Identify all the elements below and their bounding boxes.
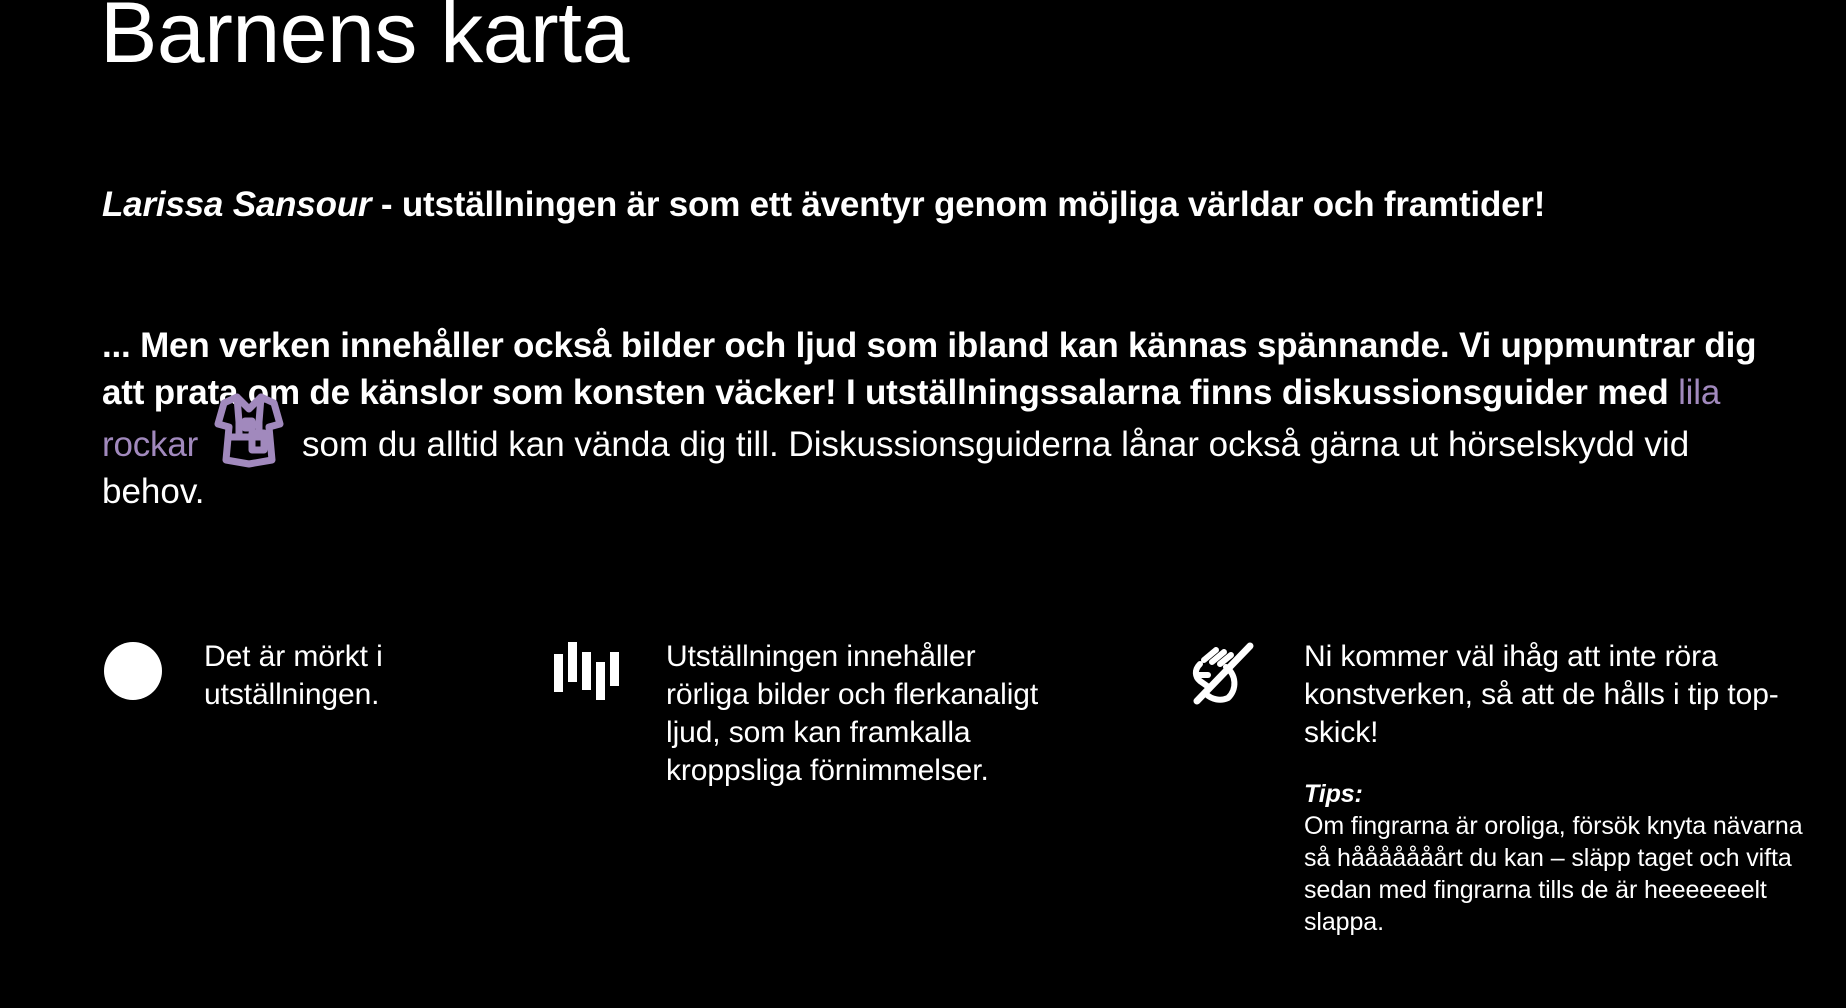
info-column-sound: Utställningen innehåller rörliga bilder …	[552, 628, 1052, 790]
filled-circle-icon	[104, 642, 162, 700]
barnens-karta-page: Barnens karta Larissa Sansour - utställn…	[0, 0, 1846, 1008]
artist-name: Larissa Sansour	[102, 185, 371, 224]
guidance-part-two: som du alltid kan vända dig till. Diskus…	[102, 425, 1689, 511]
page-title: Barnens karta	[100, 0, 629, 78]
do-not-touch-icon	[1186, 636, 1260, 713]
guidance-part-one: ... Men verken innehåller också bilder o…	[102, 326, 1756, 412]
tips-text: Om fingrarna är oroliga, försök knyta nä…	[1304, 812, 1803, 936]
intro-rest: - utställningen är som ett äventyr genom…	[371, 185, 1545, 224]
info-column-sound-text: Utställningen innehåller rörliga bilder …	[666, 628, 1052, 790]
tips-block: Tips:Om fingrarna är oroliga, försök kny…	[1304, 778, 1826, 938]
info-column-do-not-touch-text: Ni kommer väl ihåg att inte röra konstve…	[1304, 628, 1826, 752]
purple-jacket-icon	[198, 416, 302, 456]
info-column-do-not-touch: Ni kommer väl ihåg att inte röra konstve…	[1186, 628, 1826, 938]
guidance-paragraph: ... Men verken innehåller också bilder o…	[102, 322, 1762, 515]
sound-wave-icon	[552, 638, 614, 700]
info-column-darkness: Det är mörkt i utställningen.	[104, 628, 464, 714]
intro-paragraph: Larissa Sansour - utställningen är som e…	[102, 182, 1582, 228]
info-columns: Det är mörkt i utställningen. Utställnin…	[0, 628, 1846, 1008]
tips-label: Tips:	[1304, 778, 1826, 810]
info-column-darkness-text: Det är mörkt i utställningen.	[204, 628, 464, 714]
